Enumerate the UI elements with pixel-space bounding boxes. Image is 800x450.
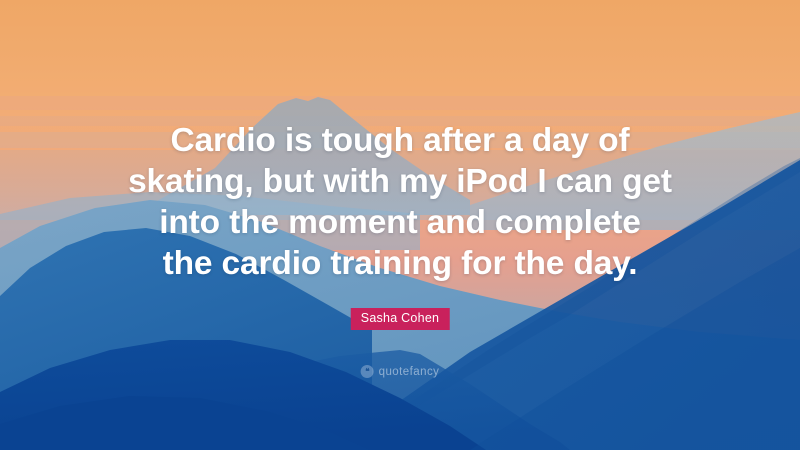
- quote-poster: Cardio is tough after a day of skating, …: [0, 0, 800, 450]
- quote-text: Cardio is tough after a day of skating, …: [0, 120, 800, 284]
- watermark-brand: quotefancy: [379, 366, 440, 378]
- quote-content: Cardio is tough after a day of skating, …: [0, 0, 800, 450]
- quote-mark-glyph: ❝: [365, 368, 369, 376]
- author-badge[interactable]: Sasha Cohen: [351, 308, 450, 330]
- quote-mark-icon: ❝: [361, 365, 374, 378]
- watermark[interactable]: ❝ quotefancy: [361, 365, 440, 378]
